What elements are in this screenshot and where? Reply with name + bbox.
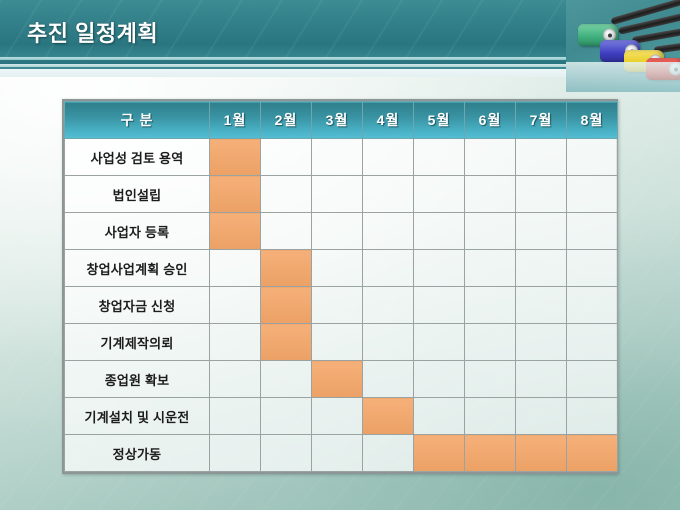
gantt-cell-filled: [261, 324, 312, 361]
gantt-cell-filled: [465, 435, 516, 472]
gantt-cell-empty: [312, 435, 363, 472]
gantt-cell-filled: [516, 435, 567, 472]
gantt-cell-empty: [261, 176, 312, 213]
gantt-cell-empty: [567, 361, 618, 398]
gantt-cell-empty: [414, 213, 465, 250]
gantt-cell-empty: [312, 213, 363, 250]
column-header-month-8: 8월: [567, 102, 618, 139]
gantt-cell-empty: [363, 287, 414, 324]
table-row: 법인설립: [65, 176, 618, 213]
gantt-cell-filled: [363, 398, 414, 435]
gantt-cell-empty: [363, 361, 414, 398]
gantt-cell-empty: [465, 361, 516, 398]
gantt-cell-empty: [414, 287, 465, 324]
gantt-cell-empty: [210, 324, 261, 361]
table-body: 사업성 검토 용역법인설립사업자 등록창업사업계획 승인창업자금 신청기계제작의…: [65, 139, 618, 472]
page-title: 추진 일정계획: [27, 16, 158, 48]
gantt-cell-empty: [414, 176, 465, 213]
column-header-month-2: 2월: [261, 102, 312, 139]
gantt-cell-empty: [465, 287, 516, 324]
table-row: 사업자 등록: [65, 213, 618, 250]
gantt-cell-filled: [261, 287, 312, 324]
task-label: 종업원 확보: [65, 361, 210, 398]
gantt-cell-empty: [516, 176, 567, 213]
task-label: 기계설치 및 시운전: [65, 398, 210, 435]
table-row: 기계설치 및 시운전: [65, 398, 618, 435]
gantt-cell-empty: [261, 398, 312, 435]
gantt-cell-filled: [414, 435, 465, 472]
task-label: 창업사업계획 승인: [65, 250, 210, 287]
gantt-cell-empty: [210, 435, 261, 472]
gantt-cell-empty: [516, 398, 567, 435]
gantt-cell-empty: [465, 324, 516, 361]
gantt-cell-empty: [210, 361, 261, 398]
gantt-cell-empty: [363, 139, 414, 176]
gantt-cell-empty: [567, 213, 618, 250]
gantt-cell-empty: [210, 398, 261, 435]
schedule-table-container: 구 분1월2월3월4월5월6월7월8월 사업성 검토 용역법인설립사업자 등록창…: [62, 99, 618, 474]
gantt-cell-empty: [312, 139, 363, 176]
gantt-cell-empty: [567, 139, 618, 176]
gantt-cell-empty: [465, 139, 516, 176]
gantt-cell-filled: [312, 361, 363, 398]
gantt-cell-empty: [363, 324, 414, 361]
gantt-cell-empty: [312, 250, 363, 287]
task-label: 정상가동: [65, 435, 210, 472]
gantt-cell-empty: [312, 176, 363, 213]
gantt-cell-empty: [516, 250, 567, 287]
task-label: 사업자 등록: [65, 213, 210, 250]
task-label: 창업자금 신청: [65, 287, 210, 324]
gantt-cell-empty: [414, 139, 465, 176]
gantt-cell-filled: [261, 250, 312, 287]
gantt-cell-empty: [465, 398, 516, 435]
task-label: 법인설립: [65, 176, 210, 213]
gantt-cell-empty: [567, 176, 618, 213]
gantt-cell-empty: [465, 213, 516, 250]
column-header-month-3: 3월: [312, 102, 363, 139]
gantt-cell-empty: [414, 398, 465, 435]
gantt-cell-filled: [210, 139, 261, 176]
gantt-cell-empty: [312, 398, 363, 435]
table-row: 정상가동: [65, 435, 618, 472]
gantt-cell-empty: [261, 213, 312, 250]
gantt-cell-empty: [210, 250, 261, 287]
gantt-cell-empty: [363, 250, 414, 287]
column-header-month-4: 4월: [363, 102, 414, 139]
gantt-cell-empty: [567, 324, 618, 361]
gantt-cell-empty: [465, 176, 516, 213]
gantt-cell-empty: [363, 213, 414, 250]
gantt-cell-empty: [516, 324, 567, 361]
gantt-cell-empty: [414, 250, 465, 287]
column-header-month-7: 7월: [516, 102, 567, 139]
gantt-cell-filled: [567, 435, 618, 472]
gantt-cell-empty: [312, 287, 363, 324]
gantt-cell-empty: [516, 287, 567, 324]
table-row: 창업자금 신청: [65, 287, 618, 324]
gantt-cell-empty: [516, 361, 567, 398]
gantt-cell-empty: [567, 287, 618, 324]
gantt-cell-empty: [261, 435, 312, 472]
gantt-cell-empty: [261, 139, 312, 176]
table-header: 구 분1월2월3월4월5월6월7월8월: [65, 102, 618, 139]
task-label: 기계제작의뢰: [65, 324, 210, 361]
gantt-cell-filled: [210, 176, 261, 213]
gantt-cell-empty: [516, 213, 567, 250]
table-row: 창업사업계획 승인: [65, 250, 618, 287]
gantt-cell-empty: [465, 250, 516, 287]
slide-canvas: 추진 일정계획 구 분1월2월3월4월5월6월7월8월 사업성 검토 용역법인설…: [0, 0, 680, 510]
task-label: 사업성 검토 용역: [65, 139, 210, 176]
gantt-cell-empty: [516, 139, 567, 176]
gantt-cell-empty: [210, 287, 261, 324]
column-header-month-1: 1월: [210, 102, 261, 139]
table-header-row: 구 분1월2월3월4월5월6월7월8월: [65, 102, 618, 139]
gantt-cell-empty: [567, 398, 618, 435]
gantt-cell-empty: [414, 361, 465, 398]
gantt-cell-filled: [210, 213, 261, 250]
table-row: 기계제작의뢰: [65, 324, 618, 361]
av-connectors-photo: [566, 0, 680, 92]
gantt-cell-empty: [363, 435, 414, 472]
column-header-category: 구 분: [65, 102, 210, 139]
gantt-cell-empty: [414, 324, 465, 361]
photo-glass-overlay: [566, 62, 680, 92]
table-row: 사업성 검토 용역: [65, 139, 618, 176]
table-row: 종업원 확보: [65, 361, 618, 398]
gantt-cell-empty: [261, 361, 312, 398]
gantt-cell-empty: [567, 250, 618, 287]
gantt-cell-empty: [363, 176, 414, 213]
column-header-month-6: 6월: [465, 102, 516, 139]
column-header-month-5: 5월: [414, 102, 465, 139]
gantt-cell-empty: [312, 324, 363, 361]
schedule-table: 구 분1월2월3월4월5월6월7월8월 사업성 검토 용역법인설립사업자 등록창…: [64, 101, 618, 472]
